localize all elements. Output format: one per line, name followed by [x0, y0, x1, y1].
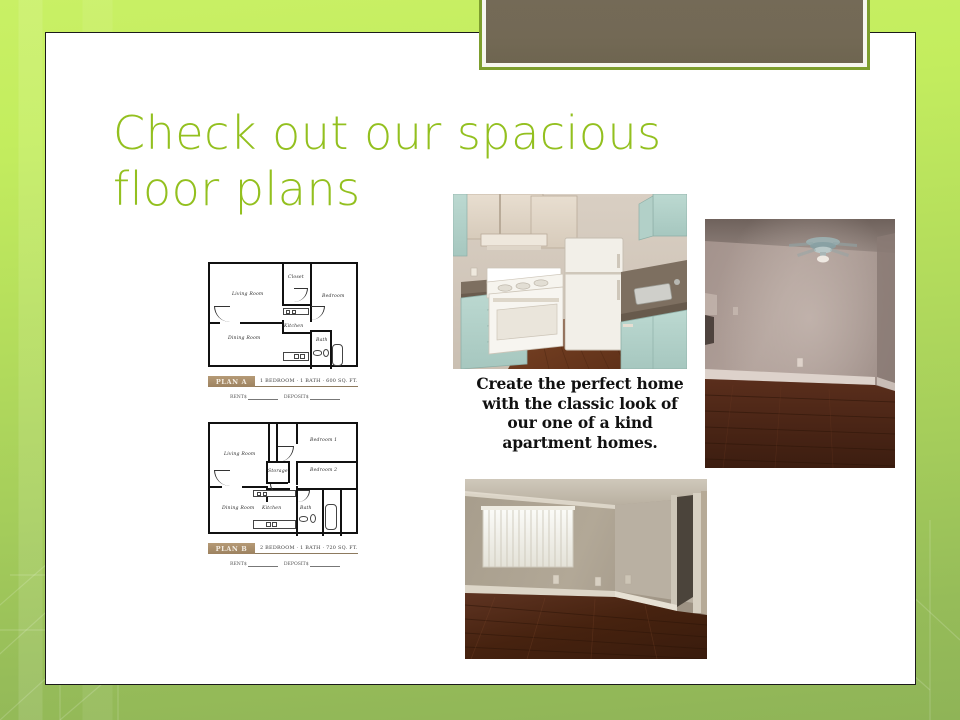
header-accent-inner	[482, 0, 867, 67]
plan-rent-row-a: RENT$ DEPOSIT$	[230, 394, 348, 400]
rent-input-line-a[interactable]	[248, 394, 278, 400]
floor-plan-drawing-b: Living Room Dining Room Kitchen Bedroom …	[208, 422, 358, 534]
rent-label-b: RENT$	[230, 562, 247, 567]
floor-plan-card-a[interactable]: Living Room Dining Room Kitchen Bedroom …	[208, 262, 358, 400]
deposit-label-b: DEPOSIT$	[284, 562, 309, 567]
rent-label-a: RENT$	[230, 395, 247, 400]
room-label-kitchen-a: Kitchen	[284, 324, 303, 329]
plan-label-bar-a: PLAN A 1 BEDROOM · 1 BATH · 600 SQ. FT.	[208, 376, 358, 387]
room-label-kitchen-b: Kitchen	[262, 506, 281, 511]
deposit-input-line-b[interactable]	[310, 561, 340, 567]
floor-plan-card-b[interactable]: Living Room Dining Room Kitchen Bedroom …	[208, 422, 358, 567]
plan-rent-row-b: RENT$ DEPOSIT$	[230, 561, 348, 567]
floor-plan-drawing-a: Living Room Dining Room Kitchen Bedroom …	[208, 262, 358, 367]
marketing-caption: Create the perfect home with the classic…	[469, 374, 691, 452]
room-label-bedroom1-b: Bedroom 1	[310, 438, 337, 443]
photo-living-room[interactable]	[465, 479, 707, 659]
header-accent-fill	[486, 0, 863, 63]
room-label-dining-b: Dining Room	[222, 506, 255, 511]
room-label-living-b: Living Room	[224, 452, 256, 457]
room-label-dining-a: Dining Room	[228, 336, 261, 341]
presentation-slide: Check out our spacious floor plans	[0, 0, 960, 720]
room-label-bedroom2-b: Bedroom 2	[310, 468, 337, 473]
room-label-bath-a: Bath	[316, 338, 328, 343]
rent-input-line-b[interactable]	[248, 561, 278, 567]
room-label-bedroom-a: Bedroom	[322, 294, 345, 299]
plan-tag-b: PLAN B	[208, 543, 255, 554]
room-label-living-a: Living Room	[232, 292, 264, 297]
room-label-bath-b: Bath	[300, 506, 312, 511]
photo-kitchen[interactable]	[453, 194, 687, 369]
room-label-closet-a: Closet	[288, 275, 304, 280]
plan-specs-b: 2 BEDROOM · 1 BATH · 720 SQ. FT.	[255, 543, 358, 554]
plan-tag-a: PLAN A	[208, 376, 255, 387]
room-label-storage-b: Storage	[268, 469, 288, 474]
deposit-label-a: DEPOSIT$	[284, 395, 309, 400]
header-accent-block	[479, 0, 870, 70]
plan-label-bar-b: PLAN B 2 BEDROOM · 1 BATH · 720 SQ. FT.	[208, 543, 358, 554]
plan-specs-a: 1 BEDROOM · 1 BATH · 600 SQ. FT.	[255, 376, 358, 387]
photo-bedroom[interactable]	[705, 219, 895, 468]
deposit-input-line-a[interactable]	[310, 394, 340, 400]
